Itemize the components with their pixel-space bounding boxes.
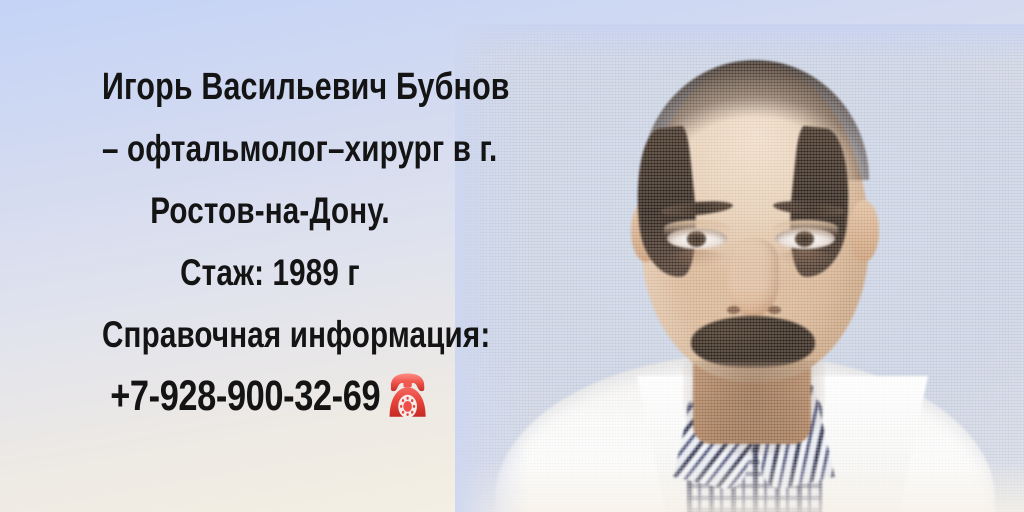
nostril-left [727,306,740,314]
under-eye-left [665,250,729,268]
info-card-canvas: Игорь Васильевич Бубнов – офтальмолог–хи… [0,0,1024,512]
doctor-city: Ростов-на-Дону. [102,180,438,242]
telephone-icon [385,370,430,422]
moustache [691,316,815,368]
chin-shadow [705,368,805,402]
doctor-experience: Стаж: 1989 г [102,242,438,304]
doctor-specialty: – офтальмолог–хирург в г. [102,118,438,180]
nostril-right [768,306,781,314]
doctor-portrait-photo [455,24,1024,512]
doctor-name: Игорь Васильевич Бубнов [102,56,438,118]
portrait-figure [455,24,1024,512]
nose [727,238,779,316]
eyelid-right [772,220,838,236]
ear-right [849,200,879,262]
eyelid-left [664,220,730,236]
phone-number[interactable]: +7-928-900-32-69 [110,366,380,426]
doctor-info-text-block: Игорь Васильевич Бубнов – офтальмолог–хи… [60,56,480,426]
under-eye-right [773,250,837,268]
phone-row: +7-928-900-32-69 [110,366,430,426]
info-label: Справочная информация: [102,304,438,366]
phone-line: +7-928-900-32-69 [102,366,438,426]
